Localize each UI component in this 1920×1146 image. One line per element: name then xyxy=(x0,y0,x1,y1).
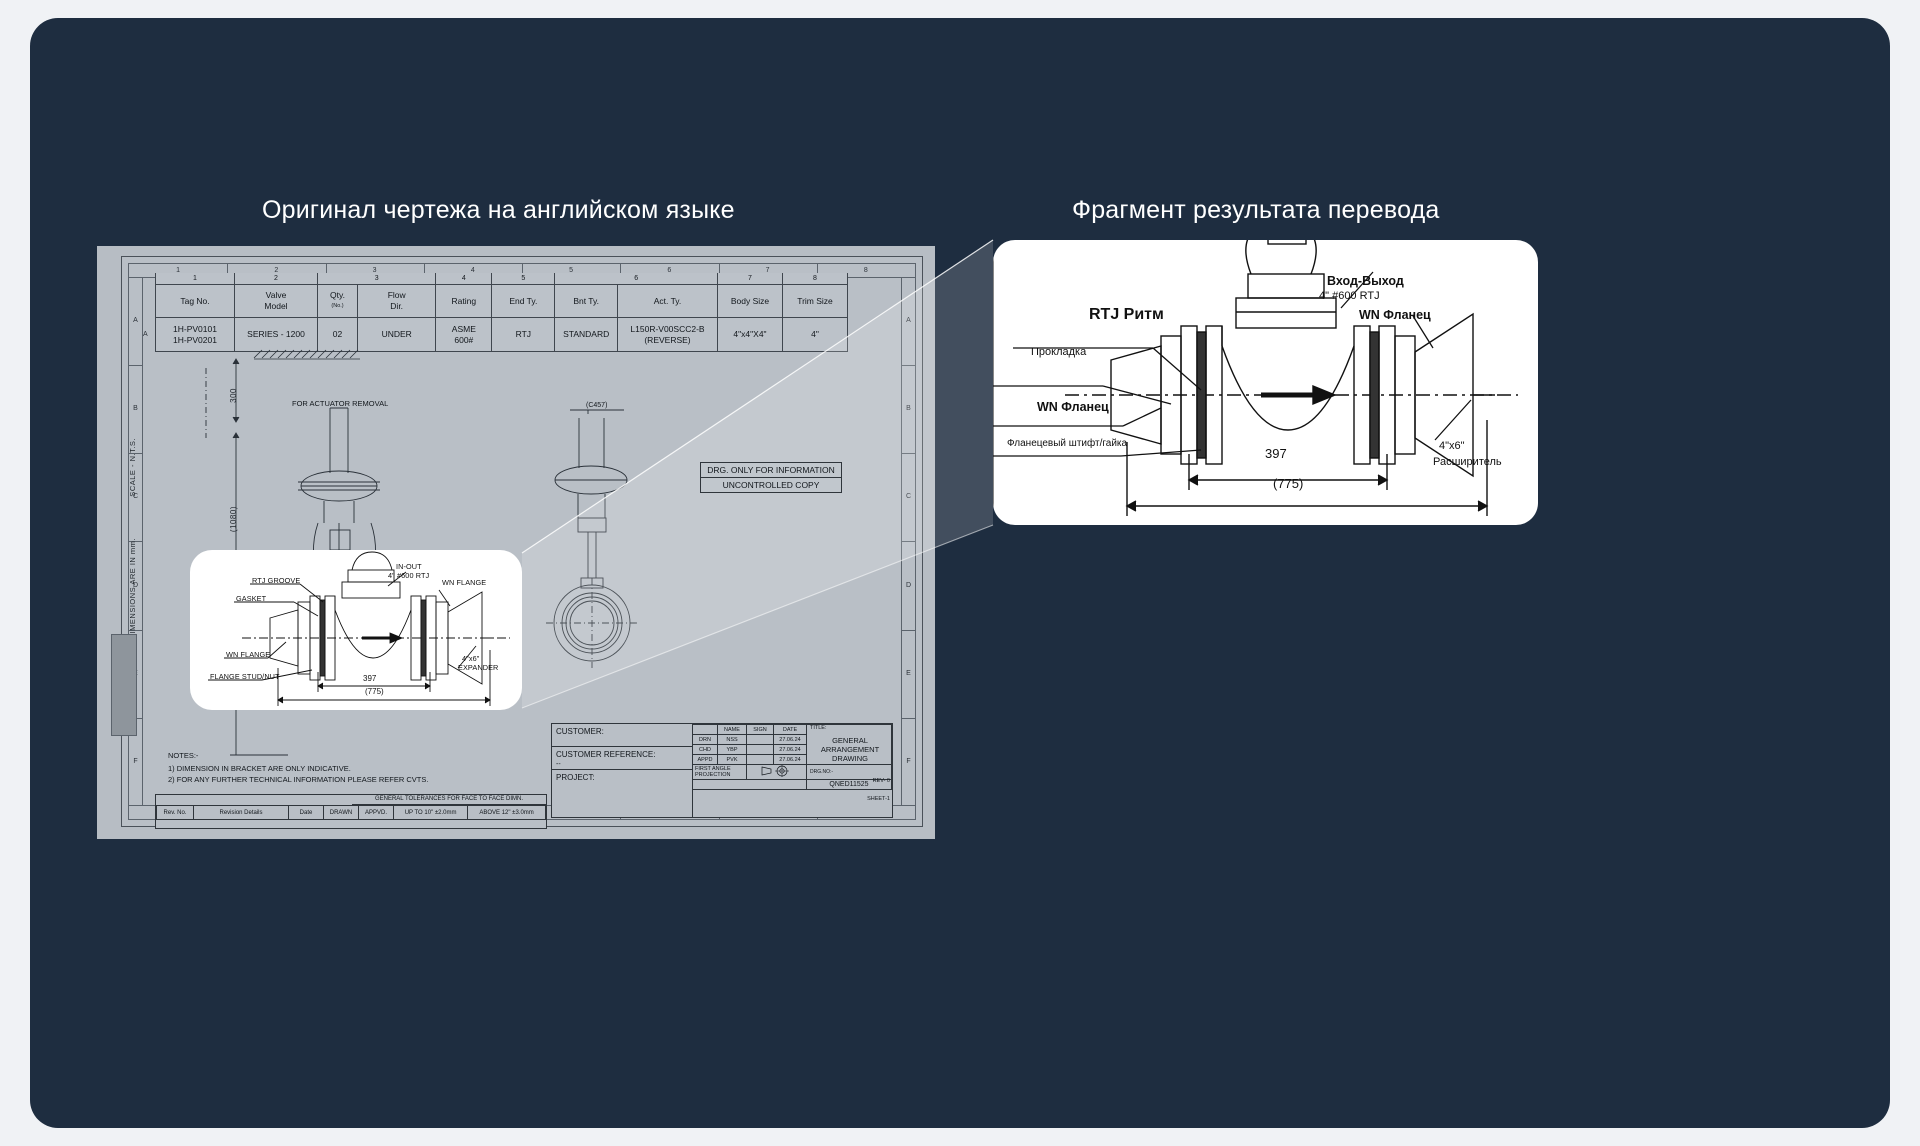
sign-role: CHD xyxy=(693,745,718,755)
en-label-wn-flange-right: WN FLANGE xyxy=(442,578,486,587)
spec-group-num: 5 xyxy=(492,273,555,285)
spec-header-qty-sub: (No.) xyxy=(318,301,357,312)
label-scale: SCALE - N.T.S. xyxy=(128,438,137,497)
en-label-gasket: GASKET xyxy=(236,594,266,603)
rev-col-drawn: DRAWN xyxy=(324,806,359,820)
presentation-slide: Оригинал чертежа на английском языке Фра… xyxy=(30,18,1890,1128)
ru-label-rtj-ritm: RTJ Ритм xyxy=(1089,306,1164,324)
title-block-right: NAME SIGN DATE TITLE: GENERAL ARRANGEMEN… xyxy=(692,724,892,817)
ru-label-wn-flange-right: WN Фланец xyxy=(1359,308,1431,322)
notes-line-2: 2) FOR ANY FURTHER TECHNICAL INFORMATION… xyxy=(168,775,428,785)
valve-spec-table: 1 2 3 4 5 6 7 8 Tag No. ValveModel Qty.(… xyxy=(155,273,848,352)
title-block-left: CUSTOMER: CUSTOMER REFERENCE:-- PROJECT: xyxy=(552,724,693,817)
spec-row-letter: A xyxy=(143,331,148,338)
en-label-expander: EXPANDER xyxy=(458,663,498,672)
rev-header-row: Rev. No. Revision Details Date DRAWN APP… xyxy=(157,806,546,820)
sign-date: 27.06.24 xyxy=(774,755,807,765)
spec-group-num: 2 xyxy=(235,273,318,285)
sign-col-date: DATE xyxy=(774,725,807,735)
dimension-1080: (1080) xyxy=(229,506,238,532)
spec-data-row: 1H-PV01011H-PV0201 SERIES - 1200 02 UNDE… xyxy=(156,318,848,352)
row-letter: C xyxy=(902,453,915,542)
spec-header-trim-size: Trim Size xyxy=(783,285,848,318)
dimension-457: (C457) xyxy=(586,401,607,411)
sign-role: APPD xyxy=(693,755,718,765)
spec-value-act-ty: L150R-V00SCC2-B(REVERSE) xyxy=(618,318,718,352)
field-customer: CUSTOMER: xyxy=(552,724,692,747)
heading-translation-result: Фрагмент результата перевода xyxy=(1072,196,1440,225)
spec-header-tag-no: Tag No. xyxy=(156,285,235,318)
ru-label-expander-size: 4"x6" xyxy=(1439,440,1465,452)
drg-no-label: DRG.NO:- xyxy=(807,769,891,775)
row-ruler-right: A B C D E F xyxy=(901,277,915,806)
spec-header-body-size: Body Size xyxy=(718,285,783,318)
rev-col-no: Rev. No. xyxy=(157,806,194,820)
drg-number-row: QNED11525 xyxy=(693,780,892,790)
sign-role-col xyxy=(693,725,718,735)
sign-name: NSS xyxy=(718,735,747,745)
stamp-information-only: DRG. ONLY FOR INFORMATION xyxy=(700,462,842,478)
sign-mark xyxy=(747,735,774,745)
notes-line-1: 1) DIMENSION IN BRACKET ARE ONLY INDICAT… xyxy=(168,764,351,774)
spec-header-bnt-ty: Bnt Ty. xyxy=(555,285,618,318)
title-value-cell: TITLE: GENERAL ARRANGEMENTDRAWING xyxy=(807,725,892,765)
sign-name: PVK xyxy=(718,755,747,765)
title-label: TITLE: xyxy=(810,725,827,731)
callout-en-geometry xyxy=(190,550,522,710)
ru-dimension-775: (775) xyxy=(1273,476,1303,491)
spec-value-flow-dir: UNDER xyxy=(358,318,436,352)
callout-ru-geometry xyxy=(993,240,1538,525)
spec-header-row: Tag No. ValveModel Qty.(No.) FlowDir. Ra… xyxy=(156,285,848,318)
tolerance-title: GENERAL TOLERANCES FOR FACE TO FACE DIMN… xyxy=(352,795,546,805)
en-label-in-out-spec: 4" #600 RTJ xyxy=(388,571,429,580)
spec-group-num: 3 xyxy=(318,273,436,285)
signature-table: NAME SIGN DATE TITLE: GENERAL ARRANGEMEN… xyxy=(692,724,892,790)
row-letter: F xyxy=(902,718,915,806)
spec-header-valve-model: ValveModel xyxy=(235,285,318,318)
spec-group-num: 7 xyxy=(718,273,783,285)
spec-group-num: 4 xyxy=(436,273,492,285)
row-letter: E xyxy=(902,630,915,719)
ru-label-in-out: Вход-Выход xyxy=(1327,274,1404,288)
projection-label: FIRST ANGLEPROJECTION xyxy=(693,765,747,780)
row-letter: A xyxy=(902,277,915,366)
sign-mark xyxy=(747,745,774,755)
sheet-indicator: SHEET-1 xyxy=(867,796,890,802)
spec-group-num: 6 xyxy=(555,273,718,285)
spec-value-valve-model: SERIES - 1200 xyxy=(235,318,318,352)
rev-col-date: Date xyxy=(289,806,324,820)
spec-group-num: 1 xyxy=(156,273,235,285)
ru-label-flange-stud-nut: Фланецевый штифт/гайка xyxy=(1007,438,1127,449)
tolerance-revision-bar: GENERAL TOLERANCES FOR FACE TO FACE DIMN… xyxy=(155,794,547,829)
row-letter: B xyxy=(902,365,915,454)
sign-col-name: NAME xyxy=(718,725,747,735)
sign-name: YBP xyxy=(718,745,747,755)
stamp-uncontrolled-copy: UNCONTROLLED COPY xyxy=(700,477,842,493)
sheet-grey-tab xyxy=(111,634,137,736)
title-value: GENERAL ARRANGEMENTDRAWING xyxy=(810,731,890,763)
sign-date: 27.06.24 xyxy=(774,735,807,745)
rev-col-appvd: APPVD. xyxy=(359,806,394,820)
dimension-300: 300 xyxy=(229,388,238,403)
rev-indicator: REV- 0 xyxy=(873,778,890,784)
tolerance-cell-1: UP TO 10" ±2.0mm xyxy=(394,806,468,820)
first-angle-projection-icon xyxy=(758,765,796,777)
callout-card-english: RTJ GROOVE GASKET IN-OUT 4" #600 RTJ WN … xyxy=(190,550,522,710)
heading-original-drawing: Оригинал чертежа на английском языке xyxy=(262,196,735,225)
en-dimension-397: 397 xyxy=(363,674,376,683)
projection-symbol-cell xyxy=(747,765,807,780)
spec-value-rating: ASME600# xyxy=(436,318,492,352)
annotation-for-actuator-removal: FOR ACTUATOR REMOVAL xyxy=(292,399,388,409)
spec-header-qty: Qty.(No.) xyxy=(318,285,358,318)
spec-value-end-ty: RTJ xyxy=(492,318,555,352)
en-label-rtj-groove: RTJ GROOVE xyxy=(252,576,300,585)
drg-no-spacer xyxy=(693,780,807,790)
notes-title: NOTES:- xyxy=(168,751,198,761)
sign-col-sign: SIGN xyxy=(747,725,774,735)
spec-header-act-ty: Act. Ty. xyxy=(618,285,718,318)
ru-label-gasket: Прокладка xyxy=(1031,346,1086,358)
spec-header-end-ty: End Ty. xyxy=(492,285,555,318)
callout-card-russian: RTJ Ритм Прокладка Вход-Выход 4" #600 RT… xyxy=(993,240,1538,525)
ru-label-wn-flange-left: WN Фланец xyxy=(1037,400,1109,414)
en-dimension-775: (775) xyxy=(365,687,384,696)
row-letter: A xyxy=(129,277,142,366)
spec-value-trim-size: 4" xyxy=(783,318,848,352)
spec-group-numbers: 1 2 3 4 5 6 7 8 xyxy=(156,273,848,285)
spec-header-flow-dir: FlowDir. xyxy=(358,285,436,318)
field-customer-reference-value: -- xyxy=(556,761,561,768)
sign-mark xyxy=(747,755,774,765)
spec-value-tag-no: 1H-PV01011H-PV0201 xyxy=(156,318,235,352)
title-block: CUSTOMER: CUSTOMER REFERENCE:-- PROJECT:… xyxy=(551,723,893,818)
sign-date: 27.06.24 xyxy=(774,745,807,755)
ru-dimension-397: 397 xyxy=(1265,446,1287,461)
sign-header-row: NAME SIGN DATE TITLE: GENERAL ARRANGEMEN… xyxy=(693,725,892,735)
spec-value-qty: 02 xyxy=(318,318,358,352)
field-customer-reference-label: CUSTOMER REFERENCE: xyxy=(556,750,655,759)
projection-row: FIRST ANGLEPROJECTION DRG.NO:- xyxy=(693,765,892,780)
en-label-expander-size: 4"x6" xyxy=(462,654,479,663)
rev-col-details: Revision Details xyxy=(194,806,289,820)
spec-value-bnt-ty: STANDARD xyxy=(555,318,618,352)
en-label-flange-stud-nut: FLANGE STUD/NUT xyxy=(210,672,280,681)
ru-label-expander: Расширитель xyxy=(1433,456,1502,468)
spec-header-rating: Rating xyxy=(436,285,492,318)
field-project: PROJECT: xyxy=(552,770,692,793)
spec-value-body-size: 4"x4"X4" xyxy=(718,318,783,352)
spec-group-num: 8 xyxy=(783,273,848,285)
sign-role: DRN xyxy=(693,735,718,745)
en-label-wn-flange-left: WN FLANGE xyxy=(226,650,270,659)
en-label-in-out: IN-OUT xyxy=(396,562,422,571)
field-customer-reference: CUSTOMER REFERENCE:-- xyxy=(552,747,692,770)
tolerance-cell-2: ABOVE 12" ±3.0mm xyxy=(468,806,546,820)
row-letter: D xyxy=(902,542,915,631)
ru-label-in-out-spec: 4" #600 RTJ xyxy=(1319,290,1380,302)
